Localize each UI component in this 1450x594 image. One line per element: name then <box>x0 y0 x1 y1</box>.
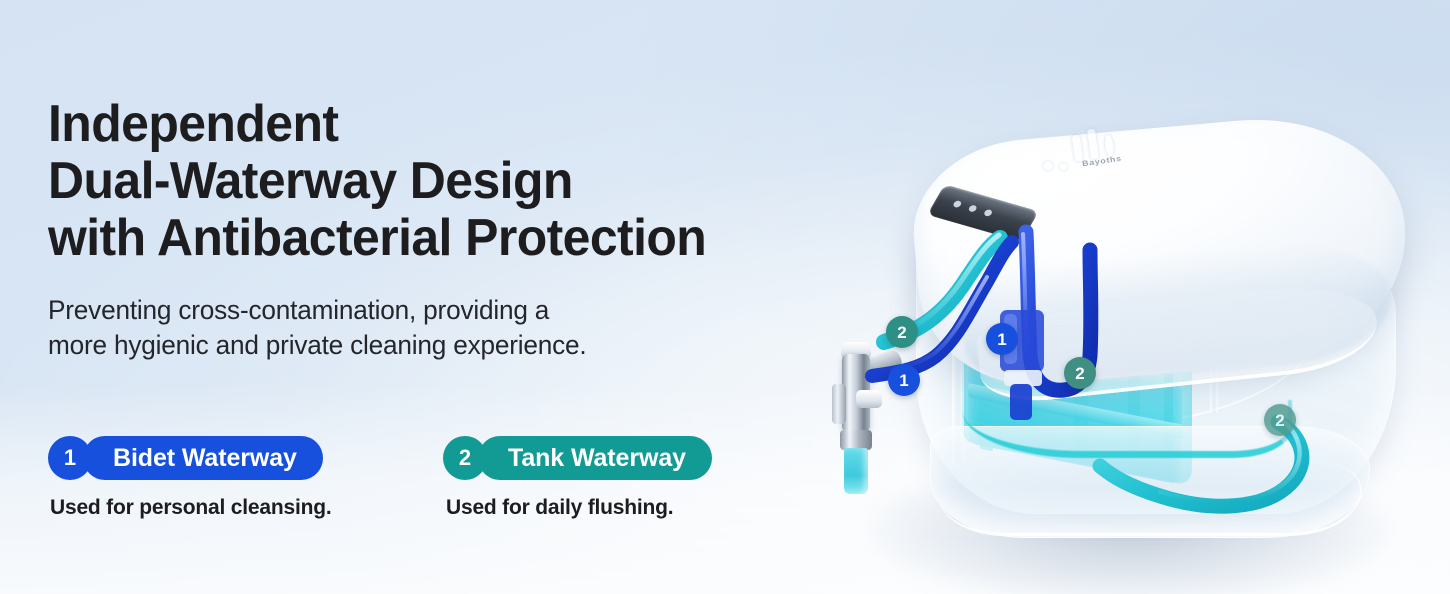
marker-tank-outlet[interactable]: 2 <box>1264 404 1296 436</box>
bidet-pump-collar <box>1004 370 1042 386</box>
legend-item-tank-waterway[interactable]: 2 Tank Waterway <box>443 436 712 480</box>
marker-tank-mid[interactable]: 2 <box>1064 357 1096 389</box>
legend-badge-number-2: 2 <box>443 436 487 480</box>
marker-bidet-inlet[interactable]: 1 <box>888 364 920 396</box>
legend-pill-bidet-waterway: Bidet Waterway <box>83 436 323 480</box>
page-subtitle: Preventing cross-contamination, providin… <box>48 293 882 363</box>
marker-tank-inlet[interactable]: 2 <box>886 316 918 348</box>
page-title: Independent Dual-Waterway Design with An… <box>48 96 874 267</box>
waterway-legend: 1 Bidet Waterway 2 Tank Waterway Used fo… <box>48 436 878 530</box>
legend-pill-row: 1 Bidet Waterway 2 Tank Waterway <box>48 436 878 484</box>
legend-item-bidet-waterway[interactable]: 1 Bidet Waterway <box>48 436 323 480</box>
waterway-tubing <box>812 104 1450 594</box>
legend-caption-tank: Used for daily flushing. <box>446 496 673 520</box>
legend-badge-number-1: 1 <box>48 436 92 480</box>
dual-waterway-banner: Independent Dual-Waterway Design with An… <box>0 0 1450 594</box>
legend-pill-tank-waterway: Tank Waterway <box>478 436 712 480</box>
marker-bidet-pump[interactable]: 1 <box>986 323 1018 355</box>
bidet-pump-downpipe <box>1010 384 1032 420</box>
copy-block: Independent Dual-Waterway Design with An… <box>48 96 908 363</box>
legend-caption-bidet: Used for personal cleansing. <box>50 496 331 520</box>
product-image-smart-toilet: Bayoths <box>812 104 1450 594</box>
legend-caption-row: Used for personal cleansing. Used for da… <box>48 496 878 530</box>
